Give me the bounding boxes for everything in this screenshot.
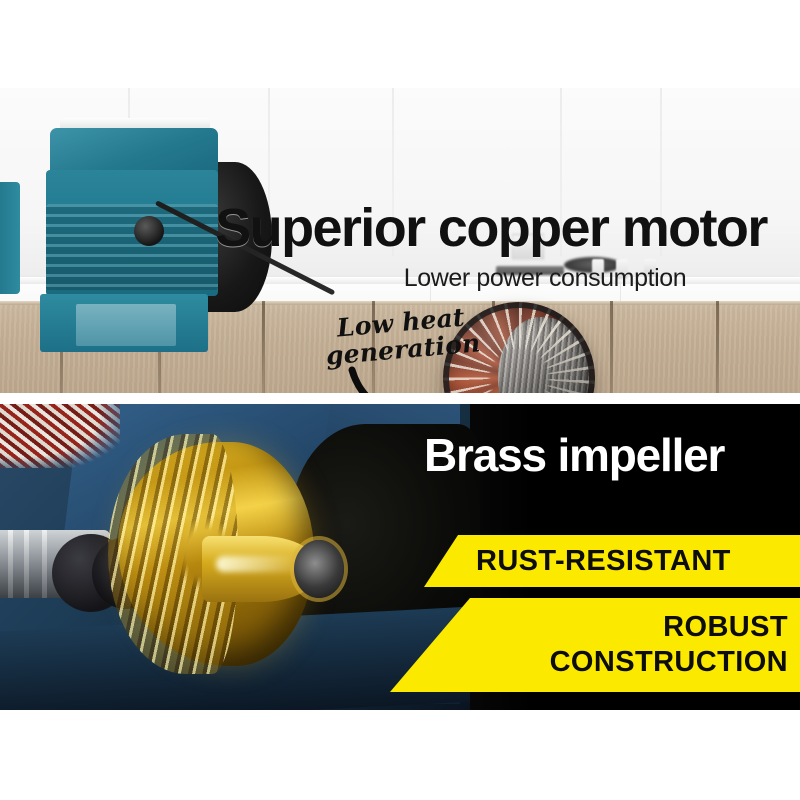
cable-grommet-shape (134, 216, 164, 246)
badge-rust-resistant: RUST-RESISTANT (424, 535, 800, 587)
brass-impeller-image (98, 428, 328, 678)
product-feature-banner: Superior copper motor Lower power consum… (0, 0, 800, 800)
subtitle-power-consumption: Lower power consumption (300, 264, 790, 293)
motor-cooling-fins (46, 204, 218, 290)
badge-robust-construction-label: ROBUST CONSTRUCTION (550, 610, 788, 681)
curved-arrow-icon (348, 364, 458, 393)
badge-line-1: ROBUST (550, 610, 788, 645)
pump-machinery-image (0, 404, 470, 710)
badge-rust-resistant-label: RUST-RESISTANT (476, 545, 731, 578)
badge-line-2: CONSTRUCTION (550, 645, 788, 680)
impeller-nut-shape (294, 540, 344, 598)
page-title-brass-impeller: Brass impeller (424, 432, 776, 478)
page-title-copper-motor: Superior copper motor (196, 202, 786, 255)
panel-superior-copper-motor: Superior copper motor Lower power consum… (0, 88, 800, 393)
